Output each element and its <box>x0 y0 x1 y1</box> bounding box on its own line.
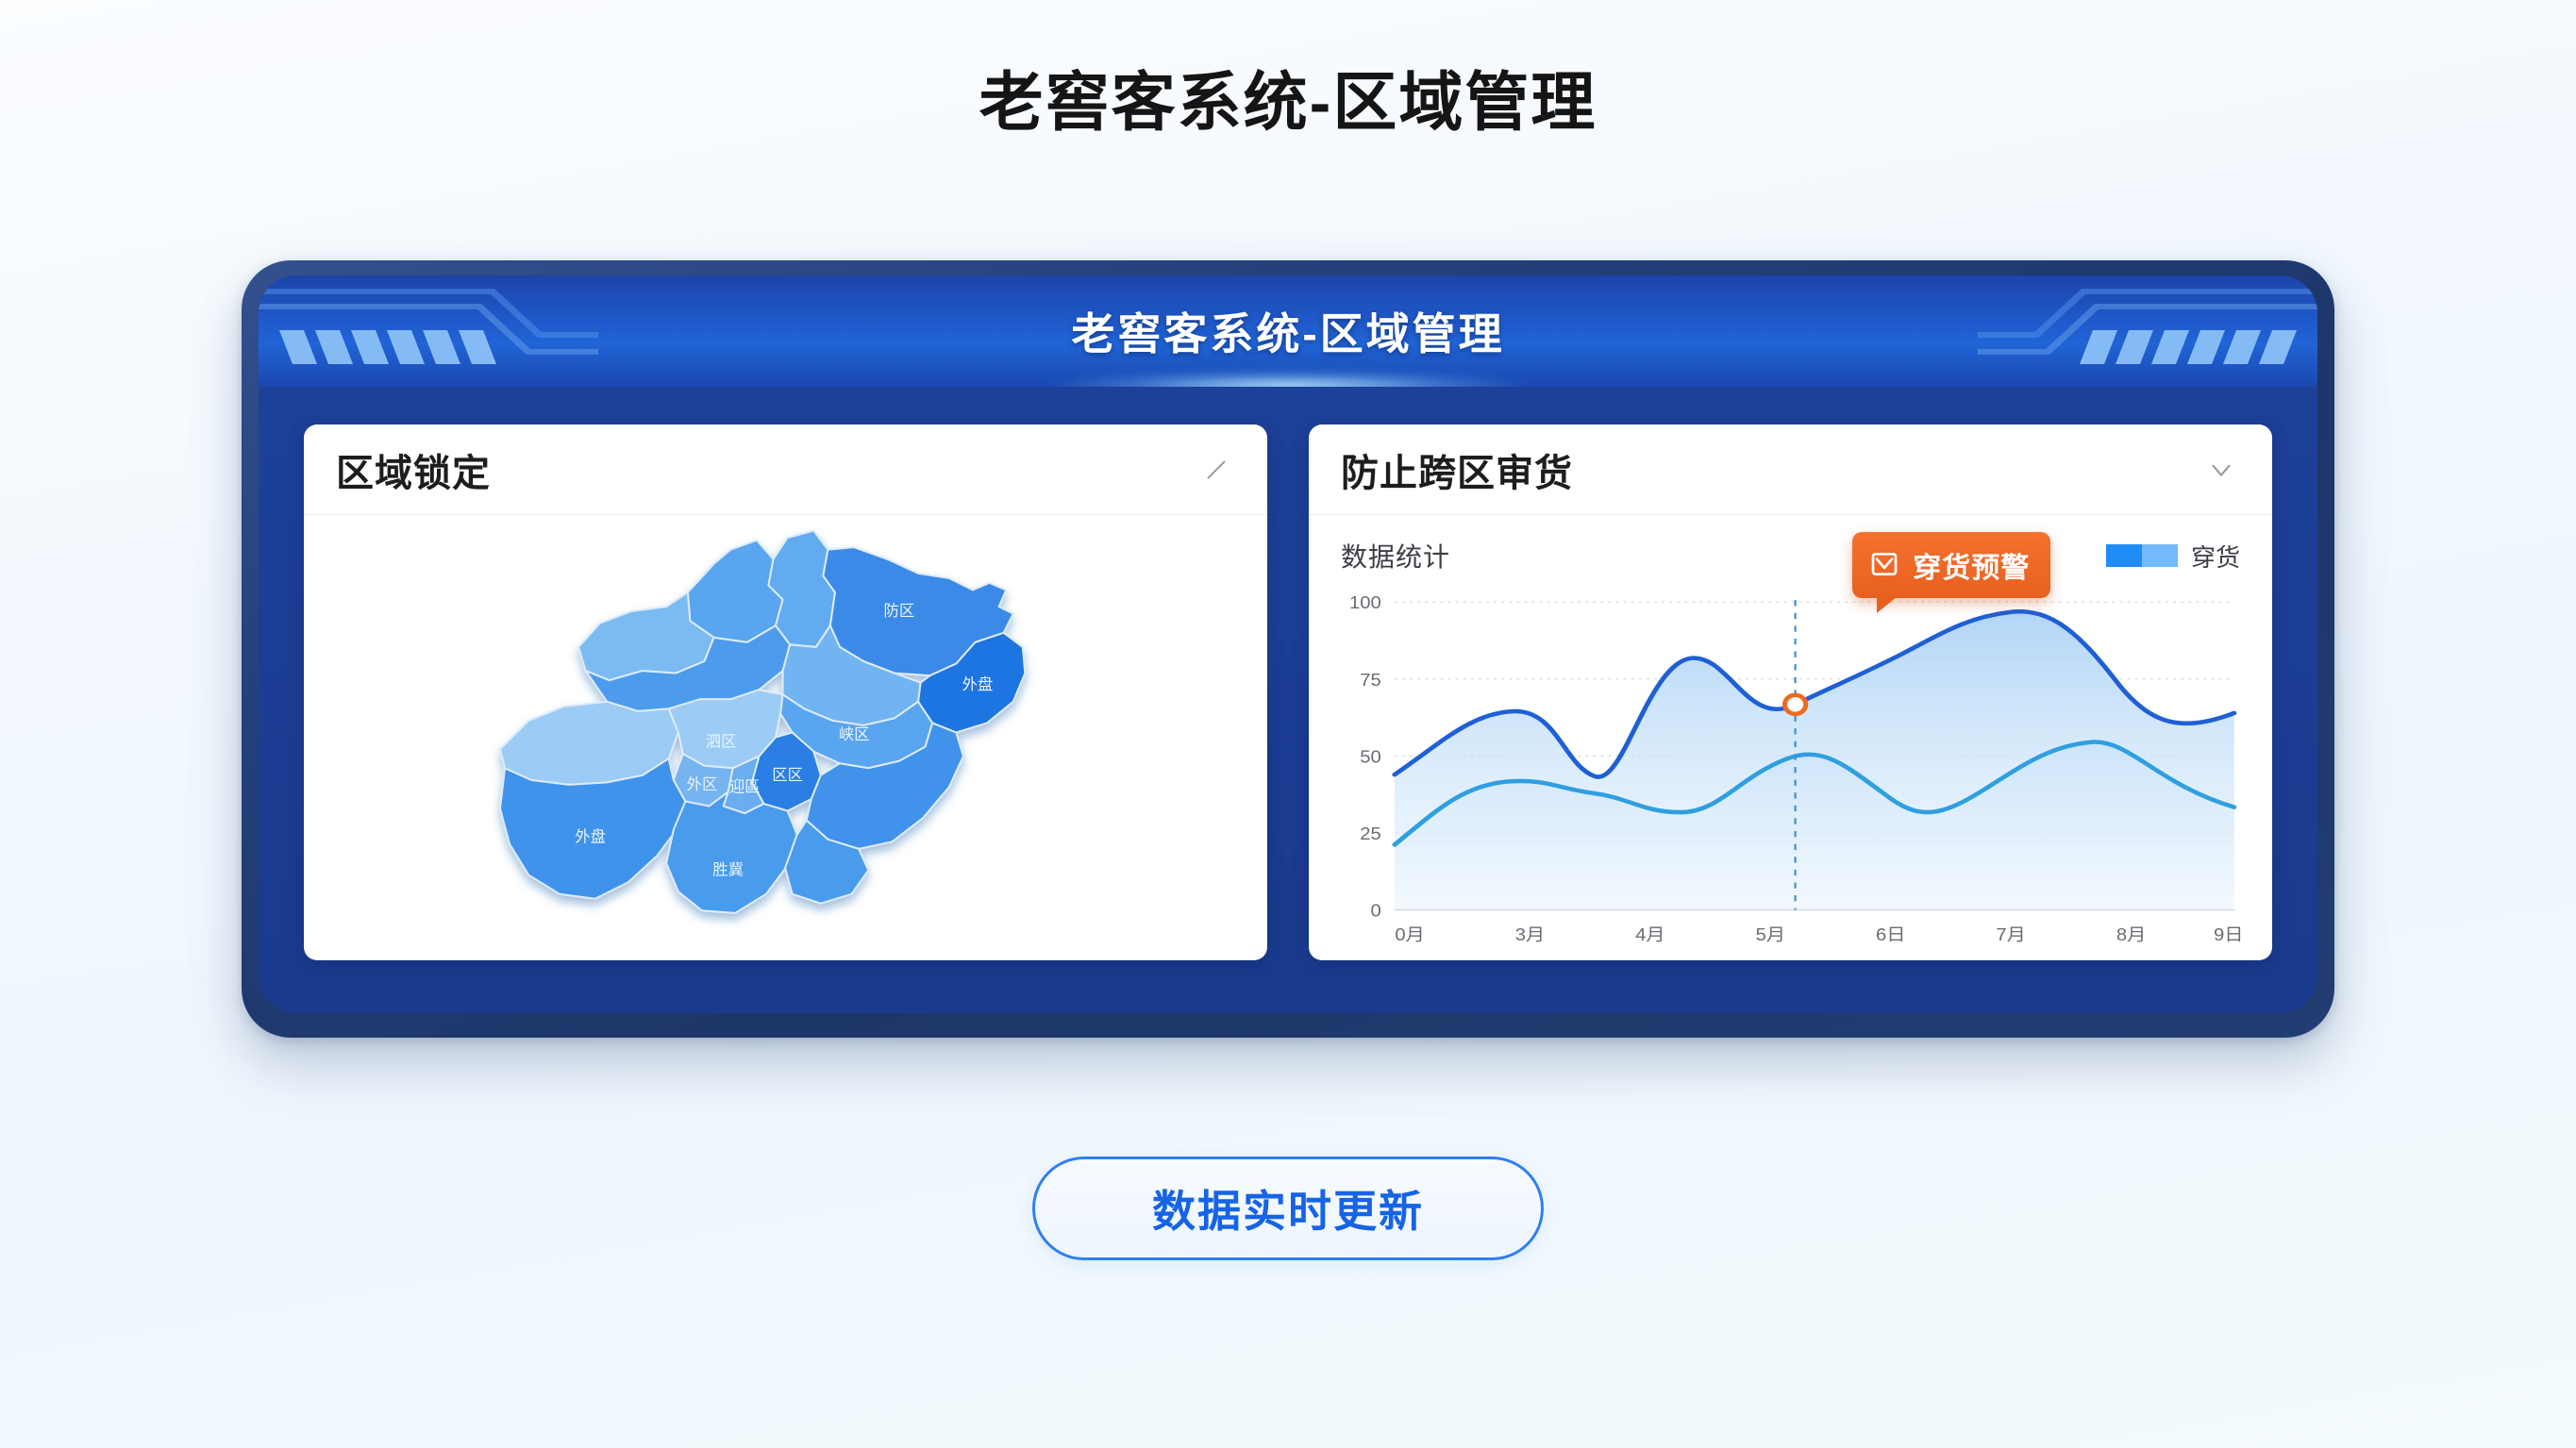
region-lock-card: 区域锁定 <box>304 424 1267 960</box>
x-tick-3: 5月 <box>1756 926 1785 945</box>
map-label-1: 外盘 <box>962 676 994 694</box>
device-frame: 老窖客系统-区域管理 区域锁定 <box>242 260 2334 1038</box>
cross-region-title: 防止跨区审货 <box>1341 442 1573 497</box>
cross-region-card: 防止跨区审货 数据统计 <box>1309 424 2272 960</box>
map-label-4: 区区 <box>773 767 804 784</box>
cross-region-card-body: 数据统计 穿货 <box>1309 515 2272 960</box>
legend-label: 穿货 <box>2191 539 2240 574</box>
region-lock-title: 区域锁定 <box>336 442 491 497</box>
app-header: 老窖客系统-区域管理 <box>259 275 2317 387</box>
chart-header-row: 数据统计 穿货 <box>1341 530 2240 581</box>
chart-plot-area[interactable]: 100 75 50 25 0 <box>1318 583 2253 951</box>
x-tick-2: 4月 <box>1635 926 1664 945</box>
app-header-title: 老窖客系统-区域管理 <box>259 275 2317 387</box>
map-label-3: 泗区 <box>706 734 737 751</box>
legend-swatch-primary <box>2106 544 2142 567</box>
cross-region-card-header: 防止跨区审货 <box>1309 424 2272 515</box>
x-tick-1: 3月 <box>1515 926 1545 945</box>
chart-subtitle: 数据统计 <box>1341 537 1450 574</box>
app-content: 区域锁定 <box>259 387 2317 1013</box>
alert-tooltip-label: 穿货预警 <box>1913 544 2030 586</box>
map-label-5: 外区 <box>687 776 718 793</box>
legend-swatch-secondary <box>2142 544 2178 567</box>
chart-legend[interactable]: 穿货 <box>2106 539 2240 574</box>
map-label-0: 防区 <box>884 604 915 621</box>
alert-tooltip[interactable]: 穿货预警 <box>1852 532 2050 598</box>
y-tick-50: 50 <box>1360 748 1381 767</box>
legend-swatch <box>2106 544 2178 567</box>
y-tick-0: 0 <box>1370 903 1380 922</box>
x-tick-5: 7月 <box>1996 926 2025 945</box>
chevron-down-icon[interactable] <box>2202 451 2240 489</box>
region-map[interactable]: 防区 外盘 峡区 泗区 区区 外区 迎區 外盘 胜冀 <box>304 515 1267 960</box>
map-label-2: 峡区 <box>839 727 870 744</box>
x-tick-6: 8月 <box>2116 926 2146 945</box>
alert-marker-point[interactable] <box>1784 695 1805 714</box>
page-title: 老窖客系统-区域管理 <box>0 68 2576 139</box>
realtime-update-button[interactable]: 数据实时更新 <box>1032 1157 1544 1260</box>
map-label-7: 外盘 <box>576 828 607 846</box>
checkbox-alert-icon <box>1869 549 1901 581</box>
region-lock-card-header: 区域锁定 <box>304 424 1267 515</box>
x-tick-4: 6日 <box>1876 926 1905 945</box>
x-tick-7: 9日 <box>2214 926 2243 945</box>
map-label-8: 胜冀 <box>713 862 744 879</box>
y-tick-25: 25 <box>1360 825 1381 844</box>
device-screen: 老窖客系统-区域管理 区域锁定 <box>259 275 2317 1013</box>
pencil-edit-icon[interactable] <box>1197 451 1235 489</box>
map-label-6: 迎區 <box>729 779 761 796</box>
y-tick-100: 100 <box>1349 594 1381 613</box>
x-tick-0: 0月 <box>1395 926 1424 945</box>
realtime-update-label: 数据实时更新 <box>1152 1177 1424 1240</box>
region-lock-card-body: 防区 外盘 峡区 泗区 区区 外区 迎區 外盘 胜冀 <box>304 515 1267 960</box>
y-tick-75: 75 <box>1360 672 1381 691</box>
